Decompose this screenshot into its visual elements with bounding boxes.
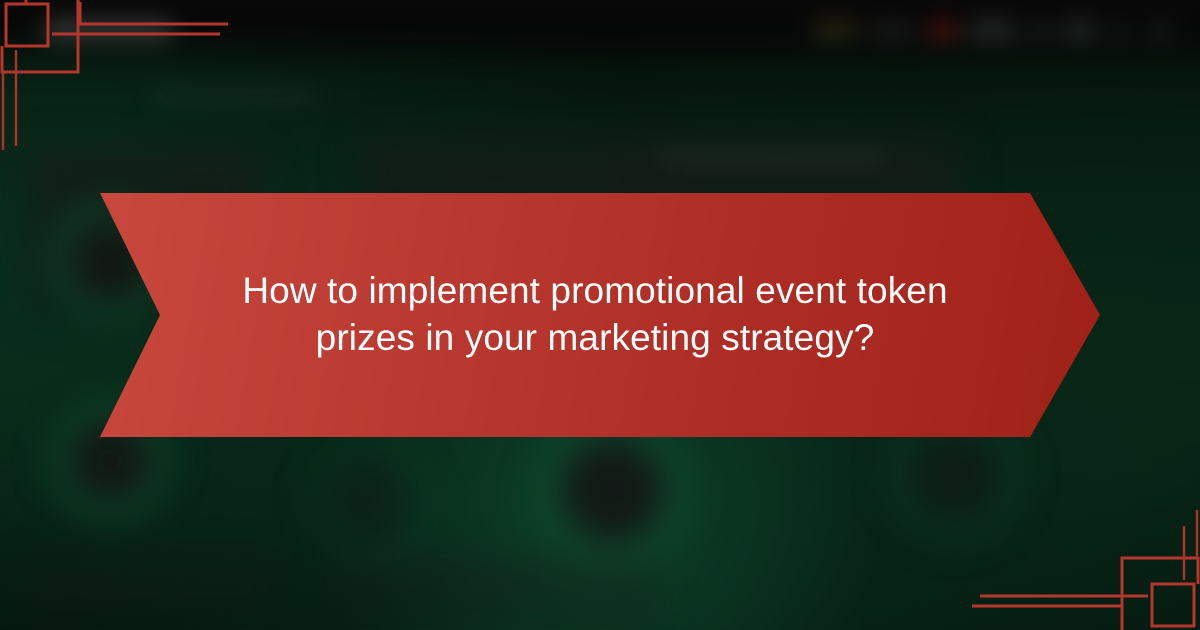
nav-blob-5: [1026, 21, 1056, 39]
blurred-top-navigation-bar: [0, 0, 1200, 75]
blurred-site-logo: [42, 20, 174, 40]
nav-blob-7: [1110, 21, 1130, 39]
nav-blob-1: [812, 21, 858, 39]
blurred-section-label: [655, 150, 885, 166]
nav-blob-4: [966, 21, 1018, 39]
blurred-token-ring-5: [300, 430, 440, 570]
page-title: How to implement promotional event token…: [220, 268, 970, 361]
nav-blob-8: [1146, 21, 1174, 39]
nav-blob-6: [1062, 21, 1098, 39]
nav-blob-3: [928, 22, 958, 40]
social-share-card: How to implement promotional event token…: [0, 0, 1200, 630]
blurred-subheading-strip: [150, 88, 320, 104]
blurred-card-bottom-mid: [330, 555, 660, 630]
headline-chevron-banner: How to implement promotional event token…: [100, 193, 1100, 437]
blurred-card-bottom-left: [20, 560, 280, 630]
nav-blob-2: [866, 21, 918, 39]
